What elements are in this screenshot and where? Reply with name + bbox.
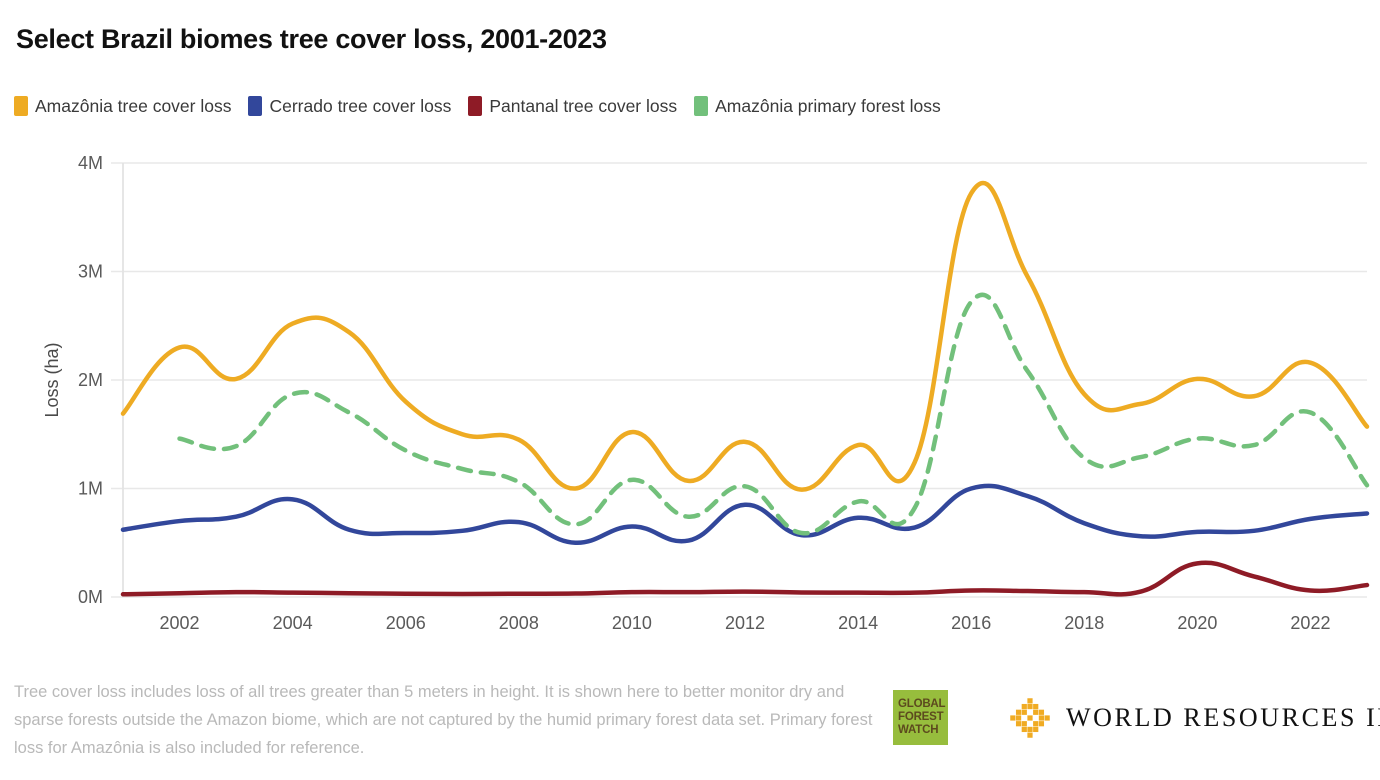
x-tick-label: 2022: [1290, 613, 1330, 633]
legend-item-amazonia-primary-forest-loss[interactable]: Amazônia primary forest loss: [694, 96, 941, 117]
gfw-logo-line-2: FOREST: [898, 711, 943, 724]
y-tick-label: 4M: [78, 153, 103, 173]
legend-swatch-icon: [248, 96, 262, 116]
legend-item-amazonia-tree-cover-loss[interactable]: Amazônia tree cover loss: [14, 96, 231, 117]
series-line-cerrado-tree-cover-loss: [123, 486, 1367, 543]
gfw-logo-line-3: WATCH: [898, 724, 938, 737]
legend-swatch-icon: [468, 96, 482, 116]
series-line-amazonia-primary-forest-loss: [180, 295, 1367, 533]
x-tick-label: 2006: [386, 613, 426, 633]
chart-legend: Amazônia tree cover lossCerrado tree cov…: [14, 94, 958, 118]
x-tick-label: 2004: [273, 613, 313, 633]
series-line-pantanal-tree-cover-loss: [123, 563, 1367, 595]
world-resources-institute-logo: WORLD RESOURCES INSTITUTE: [1010, 698, 1380, 738]
x-tick-label: 2012: [725, 613, 765, 633]
wri-logo-text: WORLD RESOURCES INSTITUTE: [1066, 703, 1380, 733]
page-title: Select Brazil biomes tree cover loss, 20…: [16, 24, 607, 55]
legend-item-pantanal-tree-cover-loss[interactable]: Pantanal tree cover loss: [468, 96, 677, 117]
line-chart-svg: 0M1M2M3M4MLoss (ha)200220042006200820102…: [0, 140, 1380, 660]
wri-diamond-mark-icon: [1010, 698, 1050, 738]
legend-item-label: Amazônia primary forest loss: [715, 96, 941, 117]
legend-swatch-icon: [14, 96, 28, 116]
footer-note-block: Tree cover loss includes loss of all tre…: [14, 678, 874, 762]
x-tick-label: 2010: [612, 613, 652, 633]
x-tick-label: 2016: [951, 613, 991, 633]
x-tick-label: 2008: [499, 613, 539, 633]
y-tick-label: 2M: [78, 370, 103, 390]
y-tick-label: 3M: [78, 262, 103, 282]
legend-item-label: Pantanal tree cover loss: [489, 96, 677, 117]
x-tick-label: 2014: [838, 613, 878, 633]
y-axis-tick-labels: 0M1M2M3M4M: [78, 153, 103, 607]
series-lines: [123, 183, 1367, 594]
brand-logos: GLOBAL FOREST WATCH WORLD RESOURCES INST…: [893, 690, 1380, 745]
chart-page: Select Brazil biomes tree cover loss, 20…: [0, 0, 1380, 780]
gfw-logo-line-1: GLOBAL: [898, 698, 945, 711]
x-tick-label: 2002: [160, 613, 200, 633]
legend-item-cerrado-tree-cover-loss[interactable]: Cerrado tree cover loss: [248, 96, 451, 117]
global-forest-watch-logo: GLOBAL FOREST WATCH: [893, 690, 948, 745]
legend-item-label: Cerrado tree cover loss: [269, 96, 451, 117]
legend-swatch-icon: [694, 96, 708, 116]
legend-item-label: Amazônia tree cover loss: [35, 96, 231, 117]
x-axis-tick-labels: 2002200420062008201020122014201620182020…: [160, 613, 1331, 633]
x-tick-label: 2018: [1064, 613, 1104, 633]
y-axis-title: Loss (ha): [42, 342, 62, 417]
footnote-text: Tree cover loss includes loss of all tre…: [14, 678, 874, 762]
chart-plot-area: 0M1M2M3M4MLoss (ha)200220042006200820102…: [0, 140, 1380, 660]
y-tick-label: 1M: [78, 479, 103, 499]
y-tick-label: 0M: [78, 587, 103, 607]
x-tick-label: 2020: [1177, 613, 1217, 633]
